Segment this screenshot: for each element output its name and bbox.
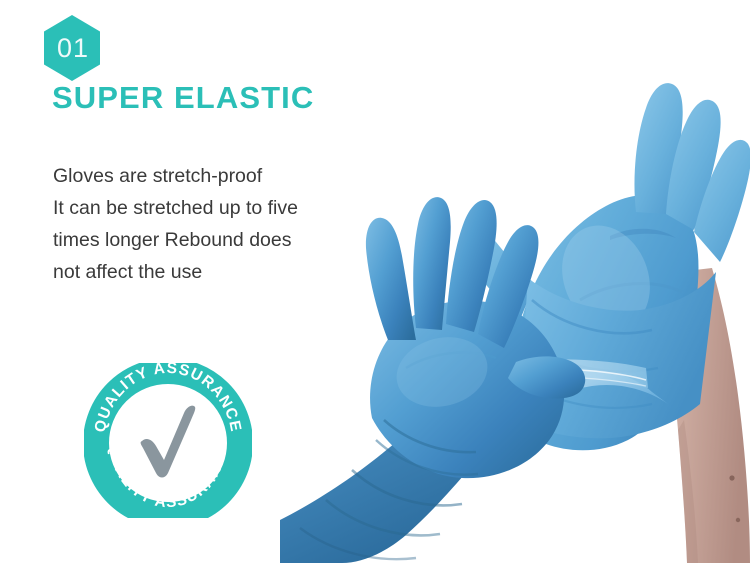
description-line: times longer Rebound does [53,224,383,256]
checkmark-icon [141,406,196,478]
description-line: Gloves are stretch-proof [53,160,383,192]
skin-mark [729,475,734,480]
left-content-column: 01 SUPER ELASTIC Gloves are stretch-proo… [0,0,340,563]
description-line: not affect the use [53,256,383,288]
description-line: It can be stretched up to five [53,192,383,224]
page-title: SUPER ELASTIC [52,80,314,116]
product-feature-slide: 01 SUPER ELASTIC Gloves are stretch-proo… [0,0,750,563]
quality-assurance-seal: QUALITY ASSURANCE QUALITY ASSURANCE [84,363,252,518]
description-text: Gloves are stretch-proof It can be stret… [53,160,383,288]
step-number-badge: 01 [42,14,102,82]
step-number-label: 01 [42,14,102,82]
skin-mark [736,518,740,522]
seal-top-text: QUALITY ASSURANCE [92,363,245,434]
